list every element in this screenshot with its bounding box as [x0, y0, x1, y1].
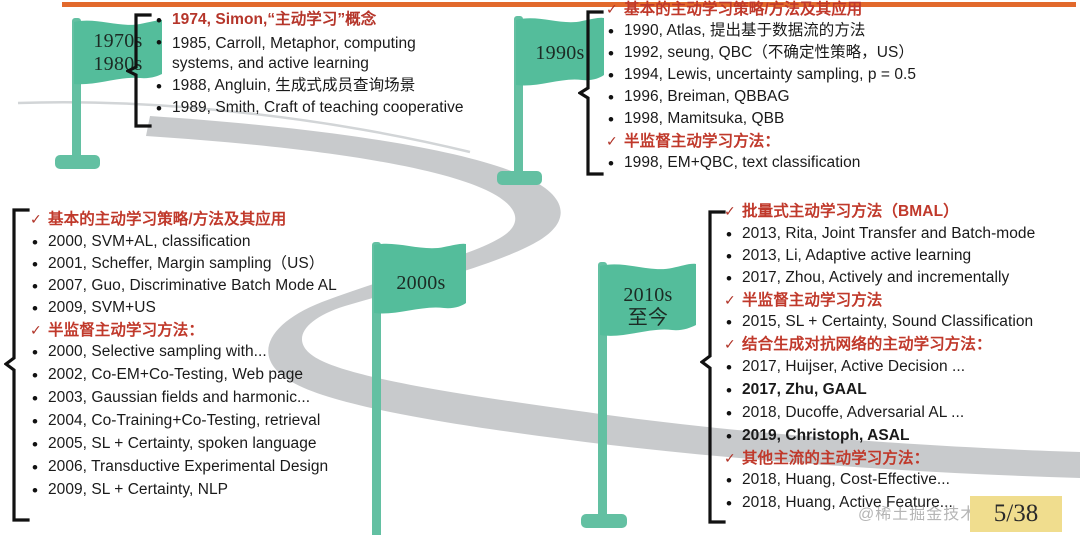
item-text: 2017, Huijser, Active Decision ... [742, 359, 1080, 375]
bullet-icon: • [28, 256, 48, 273]
item-text: 1990, Atlas, 提出基于数据流的方法 [624, 23, 1080, 39]
list-item: • 1985, Carroll, Metaphor, computing sys… [152, 34, 512, 74]
bullet-icon: • [604, 45, 624, 62]
check-icon: ✓ [722, 293, 742, 307]
item-text: 1992, seung, QBC（不确定性策略，US） [624, 45, 1080, 61]
item-text: 2013, Rita, Joint Transfer and Batch-mod… [742, 226, 1080, 242]
list-item: • 2013, Li, Adaptive active learning [722, 248, 1080, 265]
bullet-icon: • [722, 314, 742, 331]
panel-1990s: ✓ 基本的主动学习策略/方法及其应用 • 1990, Atlas, 提出基于数据… [604, 2, 1080, 172]
heading-text: 半监督主动学习方法 [742, 293, 1080, 309]
section-heading: ✓ 半监督主动学习方法： [28, 323, 418, 339]
page-number-highlight [970, 496, 1062, 532]
section-heading: ✓ 半监督主动学习方法 [722, 293, 1080, 309]
flag-banner [516, 17, 604, 95]
bullet-icon: • [28, 367, 48, 384]
item-text: 2002, Co-EM+Co-Testing, Web page [48, 367, 418, 383]
heading-text: 半监督主动学习方法： [624, 134, 1080, 150]
bullet-icon: • [722, 226, 742, 243]
section-heading: ✓ 基本的主动学习策略/方法及其应用 [604, 2, 1080, 18]
heading-text: 批量式主动学习方法（BMAL） [742, 204, 1080, 220]
list-item: • 2000, Selective sampling with... [28, 344, 418, 361]
item-text: 2007, Guo, Discriminative Batch Mode AL [48, 278, 418, 294]
list-item: • 1996, Breiman, QBBAG [604, 89, 1080, 106]
bullet-icon: • [28, 436, 48, 453]
bullet-icon: • [604, 155, 624, 172]
heading-text: 其他主流的主动学习方法： [742, 451, 1080, 467]
section-heading: ✓ 结合生成对抗网络的主动学习方法： [722, 337, 1080, 353]
item-text: 2013, Li, Adaptive active learning [742, 248, 1080, 264]
bullet-icon: • [722, 359, 742, 376]
list-item: • 1998, EM+QBC, text classification [604, 155, 1080, 172]
bullet-icon: • [28, 459, 48, 476]
heading-text: 结合生成对抗网络的主动学习方法： [742, 337, 1080, 353]
panel-1970s-1980s: • 1974, Simon,“主动学习”概念 • 1985, Carroll, … [152, 12, 512, 117]
item-text: 2017, Zhu, GAAL [742, 382, 1080, 398]
list-item: • 2017, Huijser, Active Decision ... [722, 359, 1080, 376]
item-text: 2004, Co-Training+Co-Testing, retrieval [48, 413, 418, 429]
flag-banner [74, 20, 162, 92]
item-text: 2019, Christoph, ASAL [742, 428, 1080, 444]
list-item: • 2018, Ducoffe, Adversarial AL ... [722, 405, 1080, 422]
bullet-icon: • [604, 23, 624, 40]
item-text: 1985, Carroll, Metaphor, computing syste… [172, 34, 512, 74]
bullet-icon: • [152, 34, 172, 51]
check-icon: ✓ [28, 212, 48, 226]
list-item: • 2015, SL + Certainty, Sound Classifica… [722, 314, 1080, 331]
bullet-icon: • [722, 472, 742, 489]
list-item: • 2009, SVM+US [28, 300, 418, 317]
item-text: 1989, Smith, Craft of teaching cooperati… [172, 100, 512, 116]
check-icon: ✓ [28, 323, 48, 337]
bullet-icon: • [152, 100, 172, 117]
list-item: • 1998, Mamitsuka, QBB [604, 111, 1080, 128]
milestone-flag-1970s-1980s: 1970s 1980s [22, 14, 152, 174]
bullet-icon: • [28, 413, 48, 430]
item-text: 2015, SL + Certainty, Sound Classificati… [742, 314, 1080, 330]
list-item: • 2004, Co-Training+Co-Testing, retrieva… [28, 413, 418, 430]
item-text: 1998, EM+QBC, text classification [624, 155, 1080, 171]
bullet-icon: • [152, 12, 172, 29]
check-icon: ✓ [722, 204, 742, 218]
item-text: 1998, Mamitsuka, QBB [624, 111, 1080, 127]
panel-2000s: ✓ 基本的主动学习策略/方法及其应用 • 2000, SVM+AL, class… [28, 212, 418, 499]
item-text: 2006, Transductive Experimental Design [48, 459, 418, 475]
section-heading: ✓ 批量式主动学习方法（BMAL） [722, 204, 1080, 220]
bullet-icon: • [604, 89, 624, 106]
bullet-icon: • [28, 278, 48, 295]
list-item: • 2003, Gaussian fields and harmonic... [28, 390, 418, 407]
item-text: 2005, SL + Certainty, spoken language [48, 436, 418, 452]
bullet-icon: • [722, 405, 742, 422]
item-text: 2018, Ducoffe, Adversarial AL ... [742, 405, 1080, 421]
flag-base [55, 155, 100, 169]
heading-text: 基本的主动学习策略/方法及其应用 [624, 2, 1080, 18]
bullet-icon: • [604, 67, 624, 84]
list-item: • 1974, Simon,“主动学习”概念 [152, 12, 512, 29]
item-text: 2009, SVM+US [48, 300, 418, 316]
check-icon: ✓ [722, 337, 742, 351]
check-icon: ✓ [722, 451, 742, 465]
check-icon: ✓ [604, 134, 624, 148]
list-item: • 1990, Atlas, 提出基于数据流的方法 [604, 23, 1080, 40]
item-text: 2017, Zhou, Actively and incrementally [742, 270, 1080, 286]
item-text: 1996, Breiman, QBBAG [624, 89, 1080, 105]
bullet-icon: • [722, 270, 742, 287]
item-text: 2009, SL + Certainty, NLP [48, 482, 418, 498]
check-icon: ✓ [604, 2, 624, 16]
list-item: • 2017, Zhou, Actively and incrementally [722, 270, 1080, 287]
list-item: • 2001, Scheffer, Margin sampling（US） [28, 256, 418, 273]
list-item: • 2019, Christoph, ASAL [722, 428, 1080, 445]
list-item: • 2007, Guo, Discriminative Batch Mode A… [28, 278, 418, 295]
flag-base [581, 514, 627, 528]
bullet-icon: • [722, 428, 742, 445]
bullet-icon: • [28, 234, 48, 251]
list-item: • 1994, Lewis, uncertainty sampling, p =… [604, 67, 1080, 84]
list-item: • 2000, SVM+AL, classification [28, 234, 418, 251]
list-item: • 1989, Smith, Craft of teaching coopera… [152, 100, 512, 117]
item-text: 1974, Simon,“主动学习”概念 [172, 12, 512, 28]
flag-base [497, 171, 542, 185]
bullet-icon: • [28, 300, 48, 317]
list-item: • 2018, Huang, Cost-Effective... [722, 472, 1080, 489]
bullet-icon: • [722, 248, 742, 265]
item-text: 1994, Lewis, uncertainty sampling, p = 0… [624, 67, 1080, 83]
list-item: • 2005, SL + Certainty, spoken language [28, 436, 418, 453]
bullet-icon: • [28, 482, 48, 499]
list-item: • 2013, Rita, Joint Transfer and Batch-m… [722, 226, 1080, 243]
item-text: 1988, Angluin, 生成式成员查询场景 [172, 78, 512, 94]
bullet-icon: • [604, 111, 624, 128]
bullet-icon: • [722, 382, 742, 399]
list-item: • 1992, seung, QBC（不确定性策略，US） [604, 45, 1080, 62]
slide-canvas: 1970s 1980s 1990s 2000s 2010s 至今 [0, 0, 1080, 535]
list-item: • 1988, Angluin, 生成式成员查询场景 [152, 78, 512, 95]
bullet-icon: • [28, 390, 48, 407]
section-heading: ✓ 其他主流的主动学习方法： [722, 451, 1080, 467]
bracket-2000s [4, 206, 30, 524]
section-heading: ✓ 半监督主动学习方法： [604, 134, 1080, 150]
item-text: 2000, SVM+AL, classification [48, 234, 418, 250]
item-text: 2001, Scheffer, Margin sampling（US） [48, 256, 418, 272]
panel-2010s: ✓ 批量式主动学习方法（BMAL） • 2013, Rita, Joint Tr… [722, 204, 1080, 512]
bullet-icon: • [152, 78, 172, 95]
milestone-flag-2010s: 2010s 至今 [568, 258, 718, 535]
list-item: • 2017, Zhu, GAAL [722, 382, 1080, 399]
list-item: • 2006, Transductive Experimental Design [28, 459, 418, 476]
item-text: 2000, Selective sampling with... [48, 344, 418, 360]
list-item: • 2002, Co-EM+Co-Testing, Web page [28, 367, 418, 384]
bullet-icon: • [722, 495, 742, 512]
heading-text: 基本的主动学习策略/方法及其应用 [48, 212, 418, 228]
item-text: 2003, Gaussian fields and harmonic... [48, 390, 418, 406]
bullet-icon: • [28, 344, 48, 361]
list-item: • 2009, SL + Certainty, NLP [28, 482, 418, 499]
item-text: 2018, Huang, Cost-Effective... [742, 472, 1080, 488]
flag-banner [600, 263, 696, 347]
heading-text: 半监督主动学习方法： [48, 323, 418, 339]
section-heading: ✓ 基本的主动学习策略/方法及其应用 [28, 212, 418, 228]
